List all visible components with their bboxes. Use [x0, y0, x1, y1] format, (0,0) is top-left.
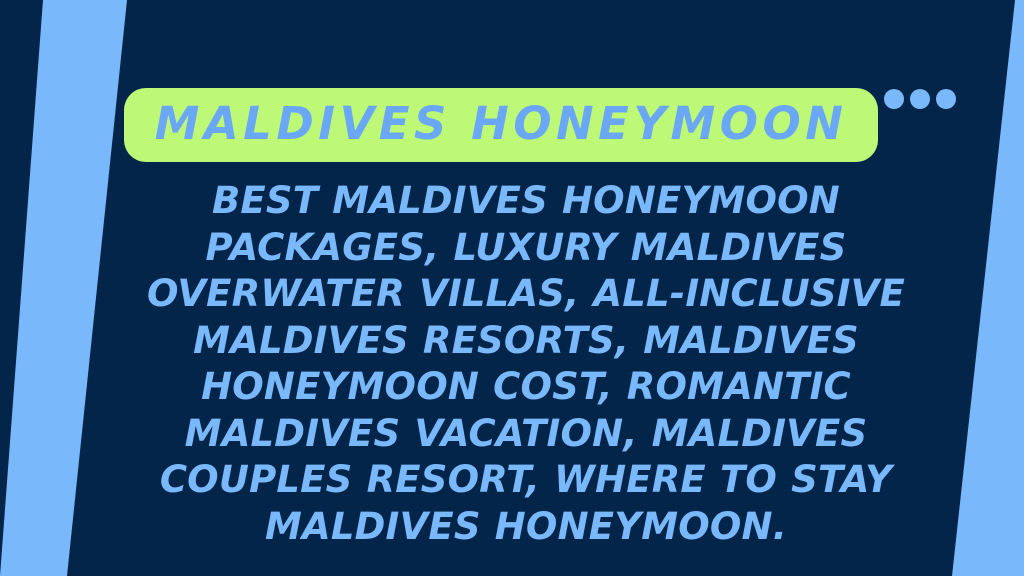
page-title: MALDIVES HONEYMOON [155, 101, 848, 146]
body-text-block: Best Maldives honeymoon packages, luxury… [96, 178, 956, 550]
body-paragraph: Best Maldives honeymoon packages, luxury… [96, 178, 956, 550]
title-pill: MALDIVES HONEYMOON [124, 88, 878, 162]
circle-dot-icon [936, 89, 956, 109]
circle-dot-icon [910, 89, 930, 109]
decorative-dots-group [884, 88, 946, 110]
circle-dot-icon [884, 89, 904, 109]
slide-canvas: MALDIVES HONEYMOON Best Maldives honeymo… [0, 0, 1024, 576]
